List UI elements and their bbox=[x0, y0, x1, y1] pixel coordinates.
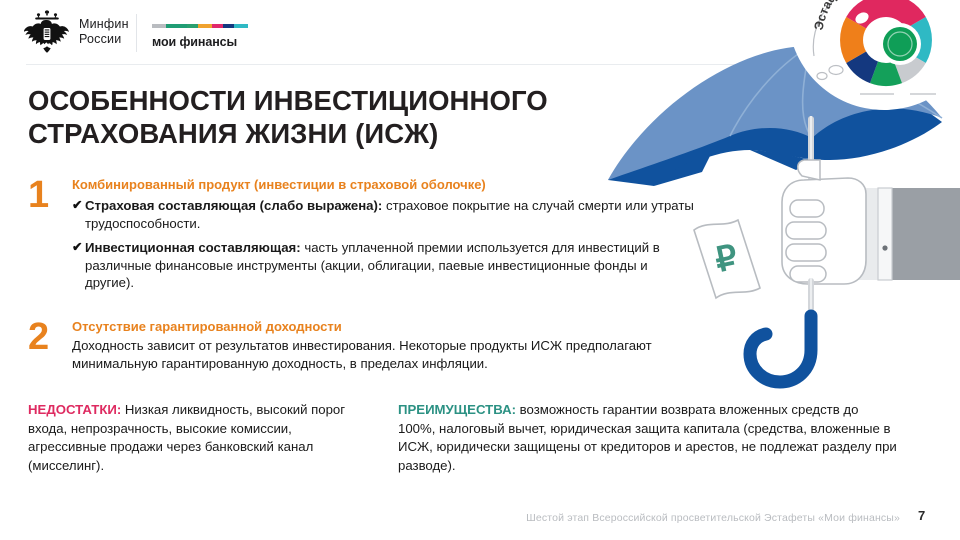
page-number: 7 bbox=[918, 508, 925, 523]
minfin-wordmark: Минфин России bbox=[79, 17, 129, 47]
block-1-number: 1 bbox=[28, 176, 49, 214]
moi-finansy-logo: мои финансы bbox=[152, 24, 248, 49]
check-icon: ✔ bbox=[72, 239, 82, 257]
russia-coat-of-arms-icon bbox=[24, 8, 70, 56]
bullet-bold: Страховая составляющая (слабо выражена): bbox=[85, 198, 382, 213]
disadvantages-column: НЕДОСТАТКИ: Низкая ликвидность, высокий … bbox=[28, 401, 373, 475]
content-block-2: 2 Отсутствие гарантированной доходности … bbox=[28, 318, 708, 373]
disadvantages-label: НЕДОСТАТКИ: bbox=[28, 402, 121, 417]
minfin-line-1: Минфин bbox=[79, 17, 129, 32]
check-icon: ✔ bbox=[72, 197, 82, 215]
slide-canvas: Минфин России мои финансы bbox=[0, 0, 960, 540]
block-1-heading: Комбинированный продукт (инвестиции в ст… bbox=[72, 176, 698, 193]
logo-divider bbox=[136, 14, 137, 52]
bullet-item: ✔ Инвестиционная составляющая: часть упл… bbox=[72, 239, 698, 292]
block-2-paragraph: Доходность зависит от результатов инвест… bbox=[72, 337, 708, 373]
page-title: ОСОБЕННОСТИ ИНВЕСТИЦИОННОГО СТРАХОВАНИЯ … bbox=[28, 84, 628, 150]
bullet-bold: Инвестиционная составляющая: bbox=[85, 240, 301, 255]
bullet-item: ✔ Страховая составляющая (слабо выражена… bbox=[72, 197, 698, 232]
block-1-bullets: ✔ Страховая составляющая (слабо выражена… bbox=[72, 197, 698, 292]
advantages-label: ПРЕИМУЩЕСТВА: bbox=[398, 402, 516, 417]
advantages-column: ПРЕИМУЩЕСТВА: возможность гарантии возвр… bbox=[398, 401, 898, 475]
bullet-text: Инвестиционная составляющая: часть уплач… bbox=[72, 239, 698, 292]
footer-caption: Шестой этап Всероссийской просветительск… bbox=[430, 512, 900, 524]
moi-finansy-color-bar bbox=[152, 24, 248, 28]
ruble-symbol-icon: ₽ bbox=[712, 238, 741, 280]
moi-finansy-wordmark: мои финансы bbox=[152, 35, 248, 49]
minfin-logo: Минфин России bbox=[24, 8, 129, 56]
block-2-heading: Отсутствие гарантированной доходности bbox=[72, 318, 708, 335]
minfin-line-2: России bbox=[79, 32, 129, 47]
estafeta-badge: Эстафета Мои финансы bbox=[776, 0, 960, 124]
content-block-1: 1 Комбинированный продукт (инвестиции в … bbox=[28, 176, 698, 292]
bullet-text: Страховая составляющая (слабо выражена):… bbox=[72, 197, 698, 232]
block-2-number: 2 bbox=[28, 318, 49, 356]
